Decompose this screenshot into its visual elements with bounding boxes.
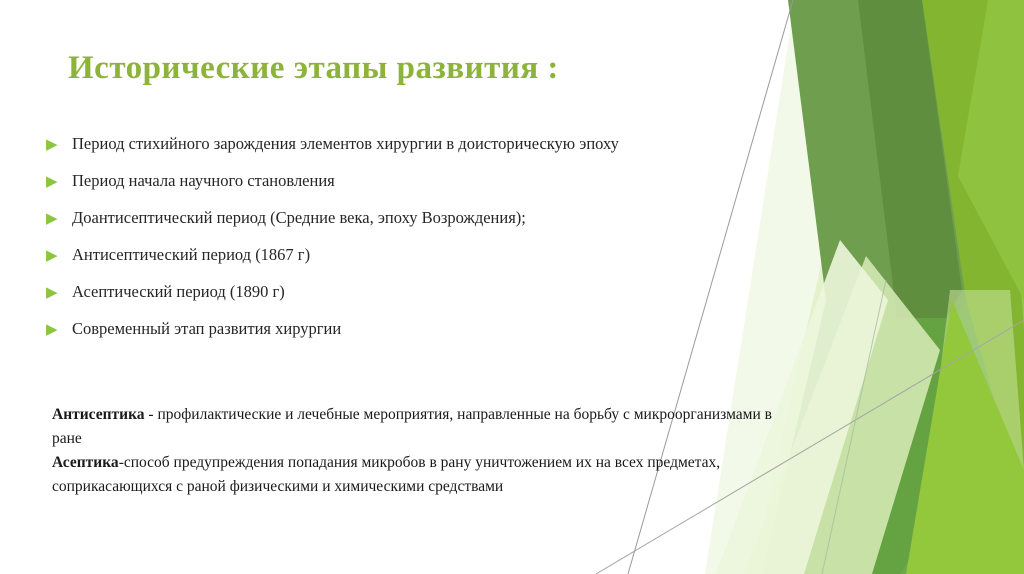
- bullet-arrow-icon: ▶: [46, 244, 72, 267]
- bullet-arrow-icon: ▶: [46, 170, 72, 193]
- bullet-arrow-icon: ▶: [46, 281, 72, 304]
- list-item: ▶ Асептический период (1890 г): [46, 281, 826, 318]
- list-item-label: Период стихийного зарождения элементов х…: [72, 133, 619, 155]
- definition-antiseptics-text: - профилактические и лечебные мероприяти…: [52, 406, 772, 447]
- decor-shape-pale-overlay-c: [916, 290, 1024, 574]
- list-item-label: Современный этап развития хирургии: [72, 318, 341, 340]
- definition-antiseptics: Антисептика - профилактические и лечебны…: [52, 403, 772, 451]
- definition-asepsis-term: Асептика: [52, 454, 119, 471]
- bullet-arrow-icon: ▶: [46, 318, 72, 341]
- definitions-block: Антисептика - профилактические и лечебны…: [52, 403, 772, 499]
- page-title: Исторические этапы развития :: [68, 50, 559, 87]
- bullet-list: ▶ Период стихийного зарождения элементов…: [46, 133, 826, 355]
- decor-shape-front-bright-a: [906, 300, 1024, 574]
- bullet-arrow-icon: ▶: [46, 207, 72, 230]
- list-item: ▶ Период начала научного становления: [46, 170, 826, 207]
- decor-hairline-tertiary: [822, 280, 886, 574]
- decor-shape-bright-accent: [938, 0, 1024, 574]
- presentation-slide: Исторические этапы развития : ▶ Период с…: [0, 0, 1024, 574]
- decor-shape-dark-lower-core: [800, 318, 990, 574]
- list-item-label: Период начала научного становления: [72, 170, 335, 192]
- decor-shape-front-bright-b: [958, 0, 1024, 300]
- definition-asepsis-text: -способ предупреждения попадания микробо…: [52, 454, 720, 495]
- definition-asepsis: Асептика-способ предупреждения попадания…: [52, 451, 772, 499]
- list-item-label: Доантисептический период (Средние века, …: [72, 207, 526, 229]
- definition-antiseptics-term: Антисептика: [52, 406, 145, 423]
- decor-shape-midband: [862, 0, 1024, 574]
- decor-shape-dark-core: [858, 0, 962, 392]
- list-item: ▶ Доантисептический период (Средние века…: [46, 207, 826, 244]
- list-item-label: Антисептический период (1867 г): [72, 244, 310, 266]
- decor-shape-bright-right: [836, 0, 1024, 574]
- bullet-arrow-icon: ▶: [46, 133, 72, 156]
- list-item-label: Асептический период (1890 г): [72, 281, 285, 303]
- list-item: ▶ Период стихийного зарождения элементов…: [46, 133, 826, 170]
- list-item: ▶ Антисептический период (1867 г): [46, 244, 826, 281]
- list-item: ▶ Современный этап развития хирургии: [46, 318, 826, 355]
